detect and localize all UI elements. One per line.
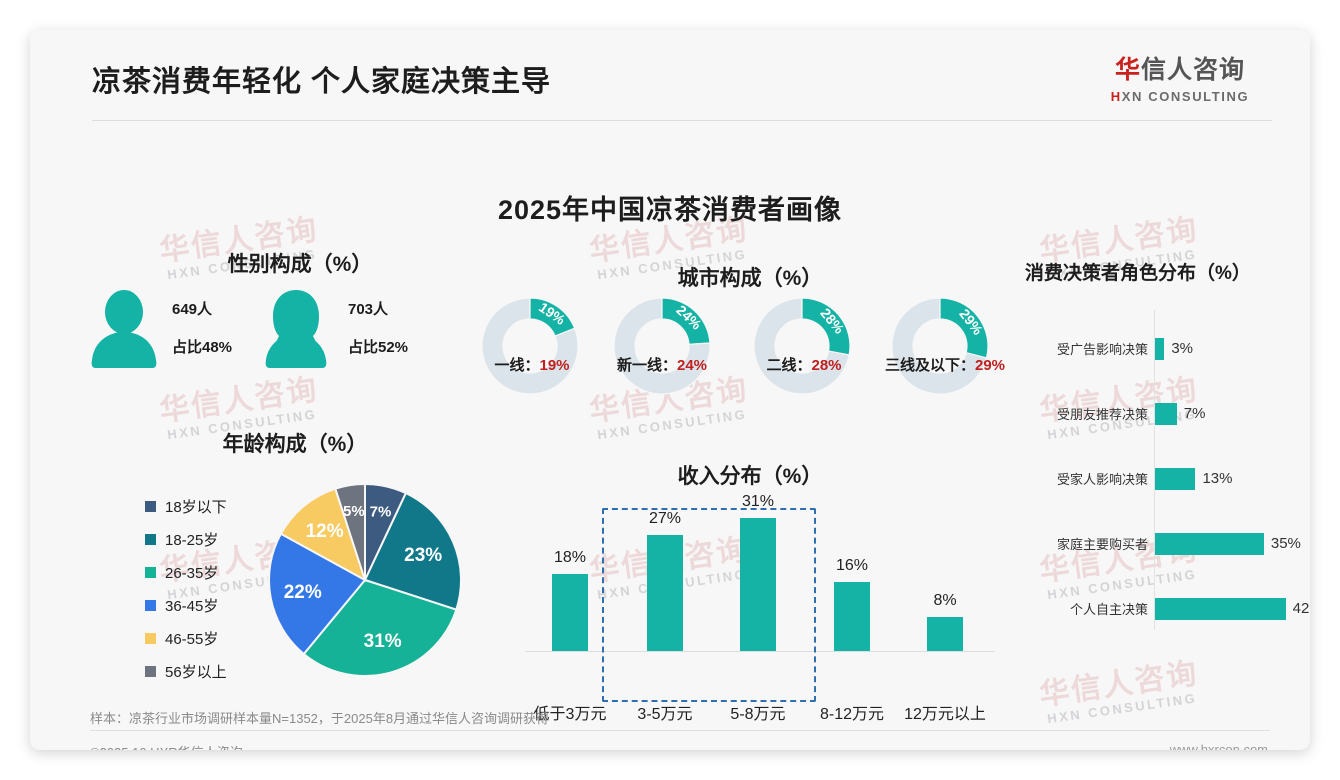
donut-svg: 28% <box>752 296 852 396</box>
pie-slice-label: 12% <box>306 521 344 542</box>
donut-caption-tier2: 二线：28% <box>742 354 866 375</box>
watermark-cn: 华信人咨询 <box>1038 659 1201 711</box>
donut-chart-newtier1: 24% <box>612 296 736 401</box>
logo-cn-rest: 信人咨询 <box>1141 56 1245 84</box>
role-value: 3% <box>1171 340 1193 357</box>
age-pie-chart: 7%23%31%22%12%5% <box>265 480 465 680</box>
male-silhouette-svg <box>90 290 158 368</box>
legend-item: 26-35岁 <box>145 556 227 589</box>
logo-cn-red-char: 华 <box>1115 56 1141 84</box>
donut-caption-value: 29% <box>975 357 1005 374</box>
role-label: 受广告影响决策 <box>1030 339 1148 358</box>
male-share: 占比48% <box>172 336 232 357</box>
role-label: 个人自主决策 <box>1030 599 1148 618</box>
legend-swatch-icon <box>145 567 156 578</box>
donut-caption-tier3: 三线及以下：29% <box>870 354 1020 375</box>
donut-chart-tier2: 28% <box>752 296 876 401</box>
pie-slice-label: 22% <box>284 582 322 603</box>
donut-caption-label: 二线： <box>766 357 811 374</box>
income-highlight-box <box>602 508 816 702</box>
legend-item: 18岁以下 <box>145 490 227 523</box>
income-distribution-section: 收入分布（%） 18% 低于3万元 27% 3-5万元 31% 5-8万元 16… <box>485 460 1015 700</box>
role-bar <box>1155 468 1195 490</box>
donut-svg: 24% <box>612 296 712 396</box>
role-row: 家庭主要购买者 35% <box>1030 533 1310 555</box>
site-url[interactable]: www.hxrcon.com <box>1170 742 1268 750</box>
donut-svg: 29% <box>890 296 990 396</box>
donut-caption-label: 三线及以下： <box>885 357 975 374</box>
role-label: 受家人影响决策 <box>1030 469 1148 488</box>
legend-label: 18岁以下 <box>165 496 227 517</box>
female-silhouette-svg <box>260 290 332 368</box>
copyright-text: ©2025.10 HXR华信人咨询 <box>90 742 243 750</box>
role-row: 受朋友推荐决策 7% <box>1030 403 1310 425</box>
donut-caption-value: 28% <box>811 357 841 374</box>
age-pie-legend: 18岁以下 18-25岁 26-35岁 36-45岁 46-55岁 56岁以上 <box>145 490 227 688</box>
role-value: 42% <box>1293 600 1310 617</box>
role-label: 家庭主要购买者 <box>1030 534 1148 553</box>
role-bar <box>1155 403 1177 425</box>
logo-en-rest: XN CONSULTING <box>1122 89 1249 104</box>
age-section-title: 年龄构成（%） <box>155 428 435 458</box>
legend-label: 26-35岁 <box>165 562 218 583</box>
income-section-title: 收入分布（%） <box>485 460 1015 490</box>
legend-swatch-icon <box>145 534 156 545</box>
donut-caption-value: 24% <box>677 357 707 374</box>
donut-caption-label: 新一线： <box>617 357 677 374</box>
legend-swatch-icon <box>145 600 156 611</box>
legend-item: 56岁以上 <box>145 655 227 688</box>
role-value: 35% <box>1271 535 1301 552</box>
donut-chart-tier1: 19% <box>480 296 604 401</box>
donut-caption-tier1: 一线：19% <box>470 354 594 375</box>
logo-en-red-char: H <box>1111 89 1122 104</box>
legend-label: 46-55岁 <box>165 628 218 649</box>
gender-composition-section: 性别构成（%） 649人 占比48% 703人 占比52% <box>90 248 470 398</box>
watermark-en: HXN CONSULTING <box>1042 691 1202 726</box>
role-bar <box>1155 598 1286 620</box>
city-composition-section: 城市构成（%） 19% 一线：19% 24% 新一线：24% 28% 二线：28… <box>470 262 1030 392</box>
header-divider <box>92 120 1272 121</box>
male-person-icon <box>90 290 158 373</box>
legend-swatch-icon <box>145 666 156 677</box>
page-title: 凉茶消费年轻化 个人家庭决策主导 <box>92 58 551 100</box>
income-bar <box>834 582 870 651</box>
logo-chinese-text: 华信人咨询 <box>1090 50 1270 86</box>
watermark: 华信人咨询 HXN CONSULTING <box>1038 659 1203 726</box>
role-bar <box>1155 338 1164 360</box>
legend-swatch-icon <box>145 633 156 644</box>
role-row: 受广告影响决策 3% <box>1030 338 1310 360</box>
age-composition-section: 年龄构成（%） 18岁以下 18-25岁 26-35岁 36-45岁 46-55… <box>85 428 485 698</box>
legend-item: 46-55岁 <box>145 622 227 655</box>
income-category-label: 5-8万元 <box>706 700 810 724</box>
legend-label: 56岁以上 <box>165 661 227 682</box>
role-section-title: 消费决策者角色分布（%） <box>1025 258 1310 285</box>
legend-item: 18-25岁 <box>145 523 227 556</box>
role-value: 7% <box>1184 405 1206 422</box>
header: 凉茶消费年轻化 个人家庭决策主导 华信人咨询 HXN CONSULTING <box>30 30 1310 122</box>
footer-divider <box>90 730 1270 731</box>
donut-caption-newtier1: 新一线：24% <box>600 354 724 375</box>
income-bar <box>552 574 588 651</box>
legend-label: 18-25岁 <box>165 529 218 550</box>
income-category-label: 12万元以上 <box>893 700 997 724</box>
income-category-label: 8-12万元 <box>800 700 904 724</box>
income-bar <box>927 617 963 651</box>
role-bar <box>1155 533 1264 555</box>
legend-item: 36-45岁 <box>145 589 227 622</box>
pie-slice-label: 23% <box>404 545 442 566</box>
pie-slice-label: 5% <box>343 503 365 520</box>
decision-role-section: 消费决策者角色分布（%） 受广告影响决策 3% 受朋友推荐决策 7% 受家人影响… <box>1030 258 1310 638</box>
income-bar-value: 8% <box>900 592 990 610</box>
city-section-title: 城市构成（%） <box>470 262 1030 292</box>
pie-slice-label: 31% <box>364 631 402 652</box>
role-label: 受朋友推荐决策 <box>1030 404 1148 423</box>
role-value: 13% <box>1202 470 1232 487</box>
company-logo: 华信人咨询 HXN CONSULTING <box>1090 50 1270 104</box>
role-row: 个人自主决策 42% <box>1030 598 1310 620</box>
legend-swatch-icon <box>145 501 156 512</box>
income-category-label: 3-5万元 <box>613 700 717 724</box>
pie-slice-label: 7% <box>370 504 392 521</box>
sample-note: 样本：凉茶行业市场调研样本量N=1352，于2025年8月通过华信人咨询调研获得 <box>90 708 549 727</box>
donut-chart-tier3: 29% <box>890 296 1014 401</box>
gender-section-title: 性别构成（%） <box>190 248 410 278</box>
watermark-en: HXN CONSULTING <box>592 407 752 442</box>
logo-english-text: HXN CONSULTING <box>1090 89 1270 104</box>
female-share: 占比52% <box>348 336 408 357</box>
legend-label: 36-45岁 <box>165 595 218 616</box>
main-subtitle: 2025年中国凉茶消费者画像 <box>30 188 1310 227</box>
slide-card: 华信人咨询 HXN CONSULTING 华信人咨询 HXN CONSULTIN… <box>30 30 1310 750</box>
donut-caption-label: 一线： <box>494 357 539 374</box>
donut-svg: 19% <box>480 296 580 396</box>
female-count: 703人 <box>348 298 388 319</box>
female-person-icon <box>260 290 332 373</box>
income-bar-value: 16% <box>807 557 897 575</box>
donut-caption-value: 19% <box>539 357 569 374</box>
role-row: 受家人影响决策 13% <box>1030 468 1310 490</box>
male-count: 649人 <box>172 298 212 319</box>
